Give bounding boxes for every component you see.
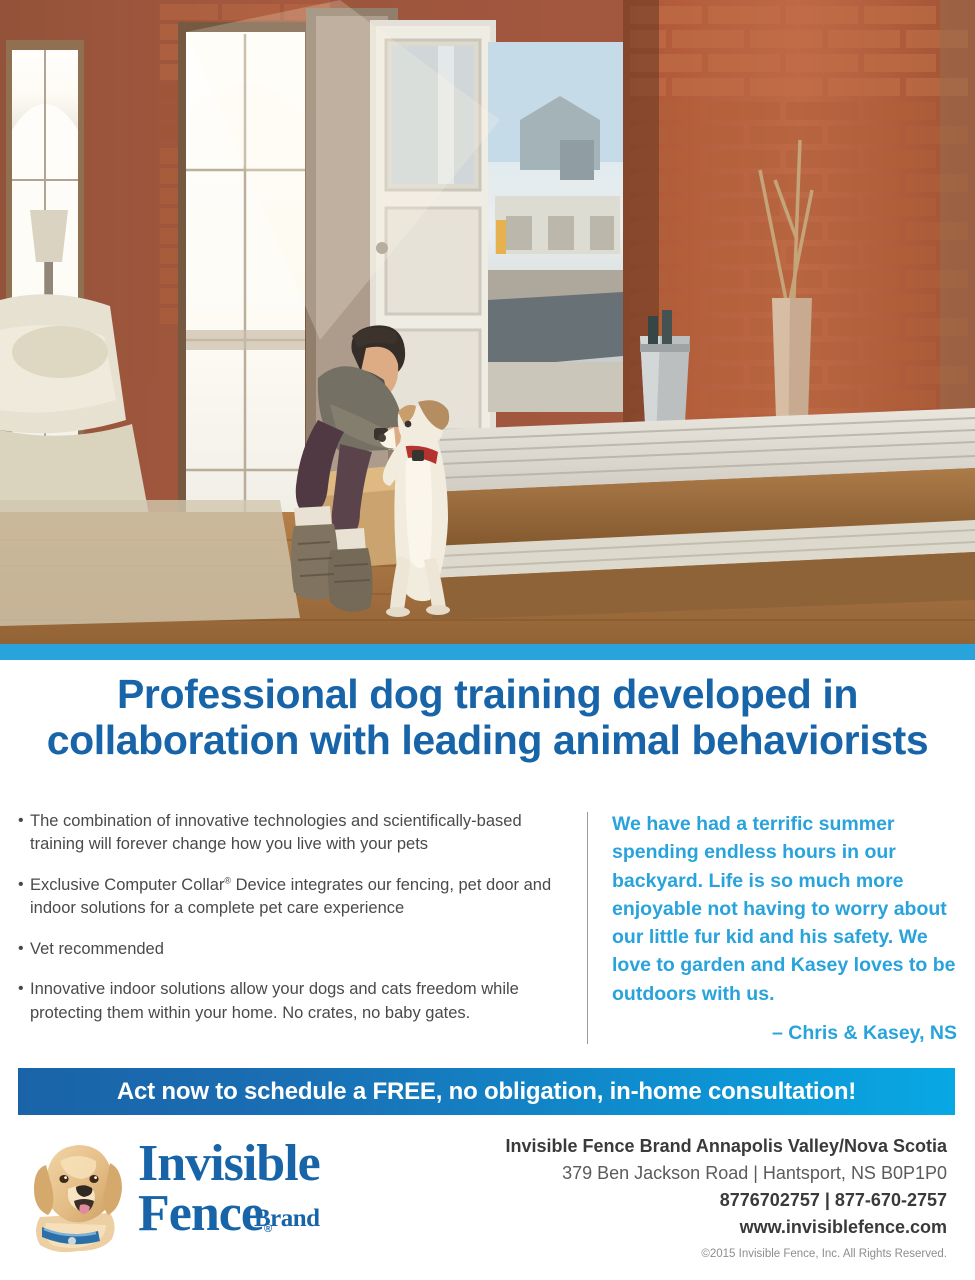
page-title: Professional dog training developed in c… — [0, 672, 975, 764]
list-item: • Vet recommended — [18, 938, 568, 961]
copyright-notice: ©2015 Invisible Fence, Inc. All Rights R… — [467, 1248, 947, 1260]
testimonial-quote: We have had a terrific summer spending e… — [612, 810, 957, 1008]
headline-line-2: collaboration with leading animal behavi… — [47, 717, 929, 763]
cta-text: Act now to schedule a FREE, no obligatio… — [117, 1078, 856, 1106]
bullet-text: Innovative indoor solutions allow your d… — [30, 978, 568, 1025]
golden-retriever-icon — [26, 1135, 136, 1255]
bullet-marker-icon: • — [18, 874, 30, 921]
body-columns: • The combination of innovative technolo… — [0, 810, 975, 1055]
logo-line-invisible: Invisible — [138, 1139, 428, 1189]
testimonial-block: We have had a terrific summer spending e… — [612, 810, 957, 1045]
list-item: • Exclusive Computer Collar® Device inte… — [18, 874, 568, 921]
hero-photo — [0, 0, 975, 644]
bullet-text: Vet recommended — [30, 938, 568, 961]
dealer-address: 379 Ben Jackson Road | Hantsport, NS B0P… — [467, 1160, 947, 1187]
contact-block: Invisible Fence Brand Annapolis Valley/N… — [467, 1133, 947, 1260]
cta-banner[interactable]: Act now to schedule a FREE, no obligatio… — [18, 1068, 955, 1115]
bullet-marker-icon: • — [18, 938, 30, 961]
logo-brand-word: Brand — [254, 1205, 320, 1233]
footer: Invisible Fence® Brand Invisible Fence B… — [0, 1125, 975, 1280]
advertisement-page: Professional dog training developed in c… — [0, 0, 975, 1280]
bullet-marker-icon: • — [18, 810, 30, 857]
bullet-text: The combination of innovative technologi… — [30, 810, 568, 857]
column-divider — [587, 812, 588, 1044]
testimonial-attribution: – Chris & Kasey, NS — [612, 1022, 957, 1045]
feature-bullet-list: • The combination of innovative technolo… — [18, 810, 568, 1042]
list-item: • Innovative indoor solutions allow your… — [18, 978, 568, 1025]
bullet-text: Exclusive Computer Collar® Device integr… — [30, 874, 568, 921]
dealer-name: Invisible Fence Brand Annapolis Valley/N… — [467, 1133, 947, 1160]
bullet-marker-icon: • — [18, 978, 30, 1025]
dealer-website[interactable]: www.invisiblefence.com — [467, 1214, 947, 1241]
brand-logo: Invisible Fence® Brand — [26, 1133, 426, 1258]
dealer-phone[interactable]: 8776702757 | 877-670-2757 — [467, 1187, 947, 1214]
hero-accent-strip — [0, 644, 975, 660]
headline-line-1: Professional dog training developed in — [117, 671, 858, 717]
list-item: • The combination of innovative technolo… — [18, 810, 568, 857]
